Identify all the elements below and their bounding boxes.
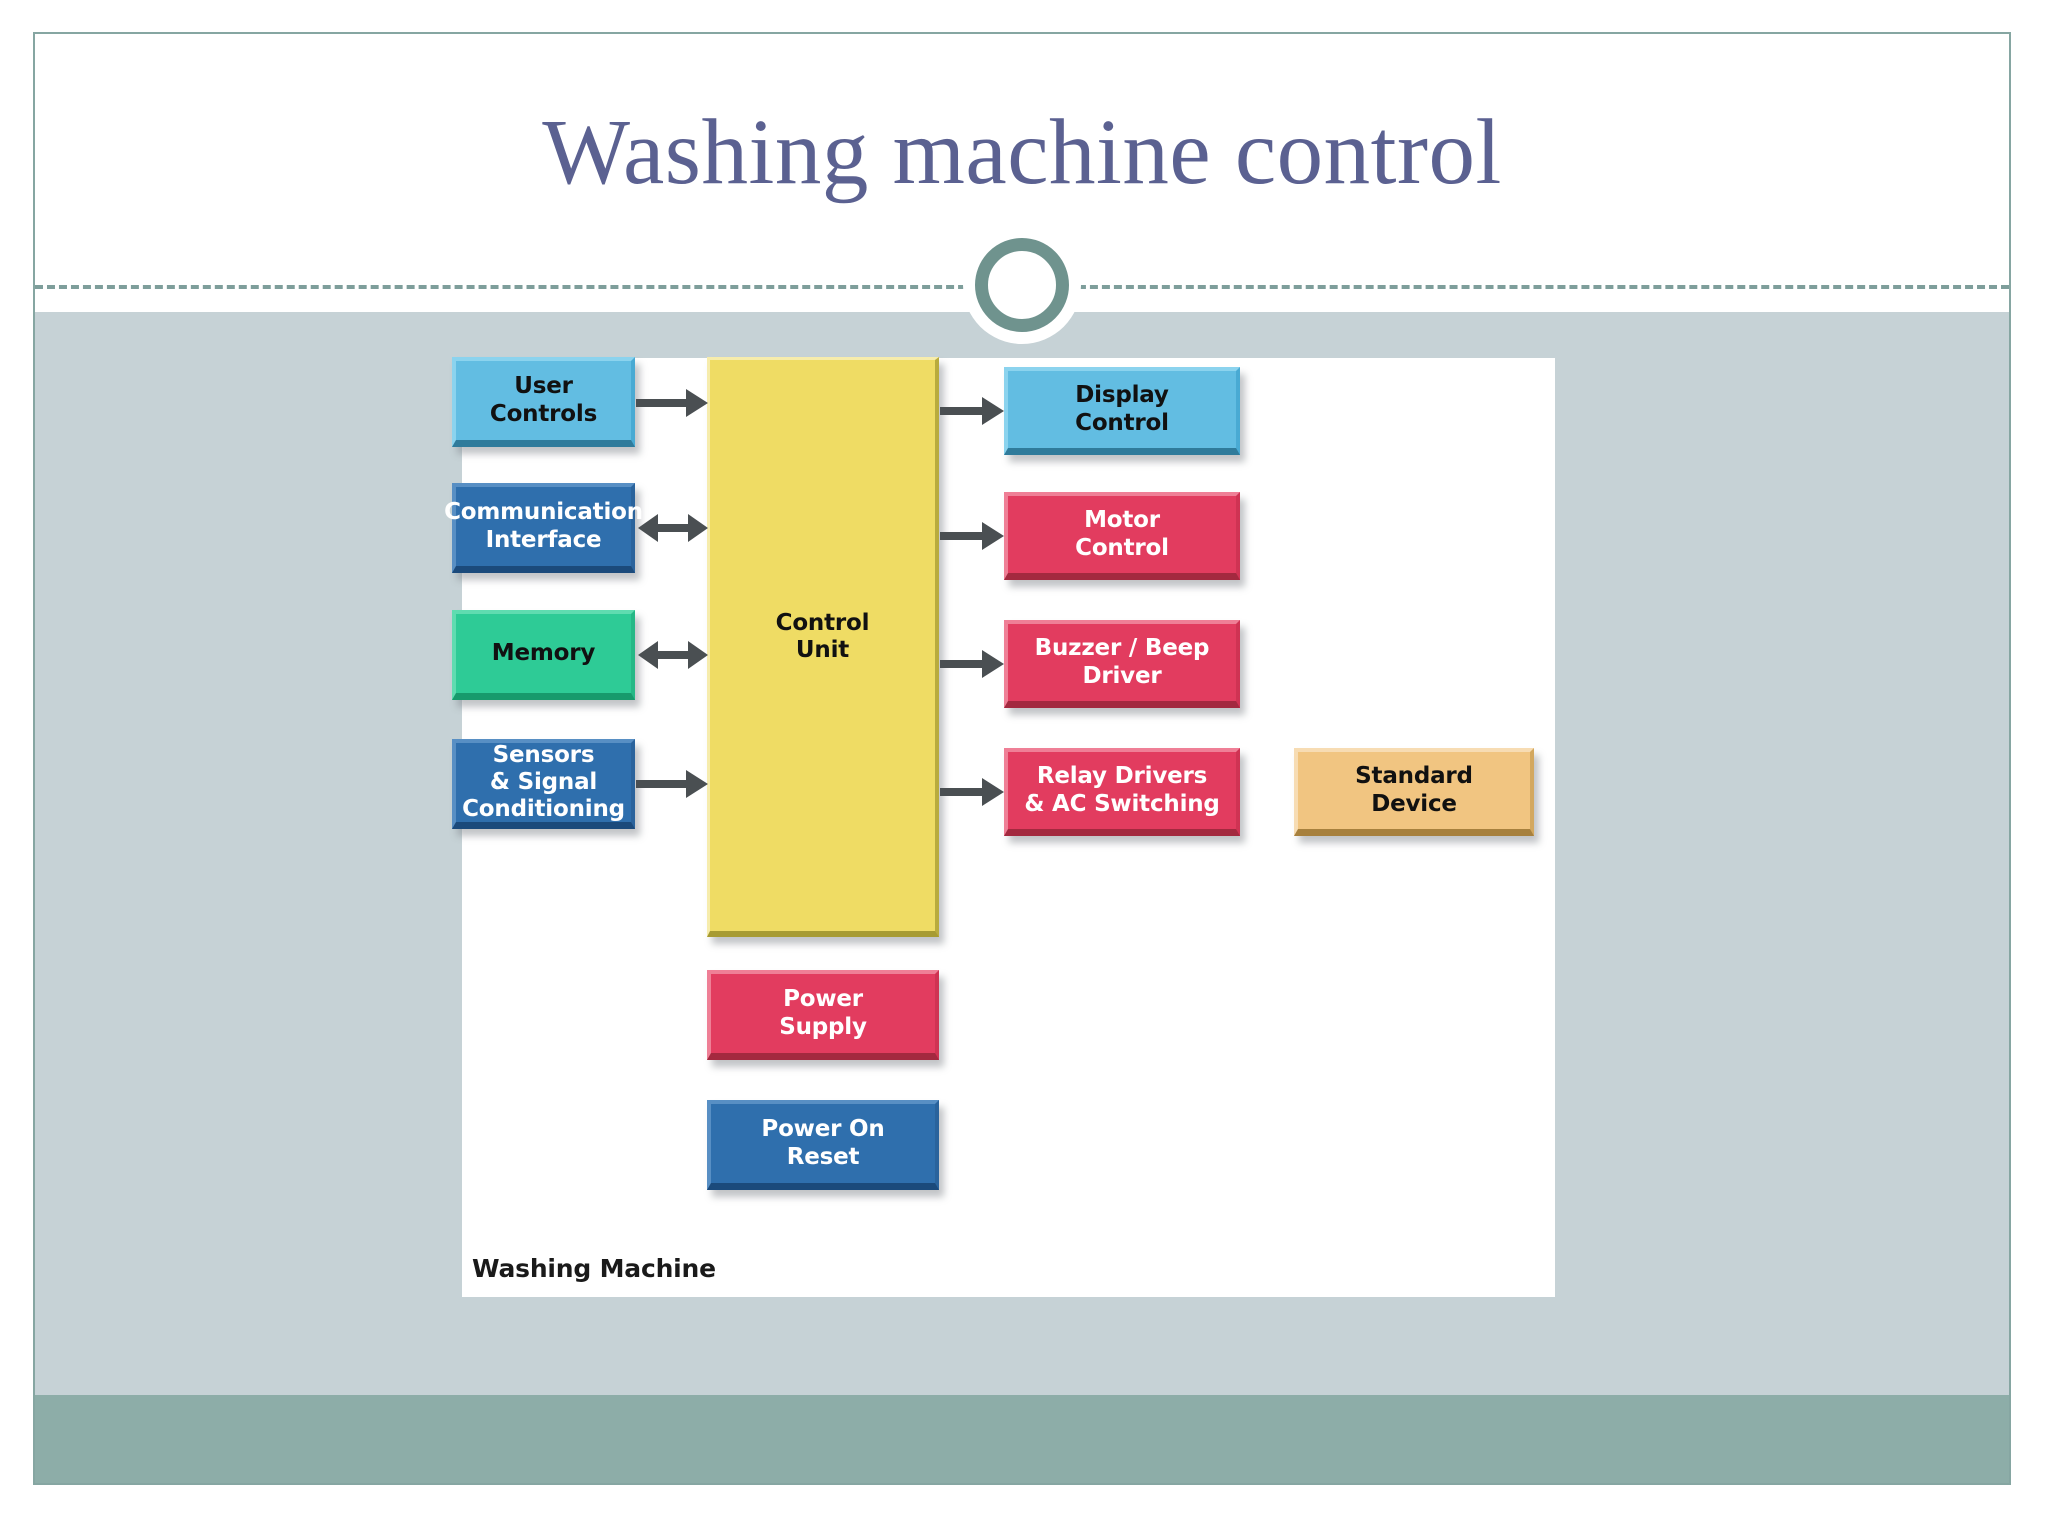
arrow-communication-interface-control-unit-bidirectional <box>636 511 710 545</box>
arrow-sensors-to-control-unit <box>636 767 710 801</box>
block-display-control[interactable]: Display Control <box>1004 367 1240 455</box>
diagram-system-label: Washing Machine <box>472 1254 716 1283</box>
page-title: Washing machine control <box>35 104 2009 202</box>
block-memory[interactable]: Memory <box>452 610 635 700</box>
block-label: Communication Interface <box>438 499 649 553</box>
presentation-slide: Washing machine control User Controls Co… <box>33 32 2011 1485</box>
arrow-memory-control-unit-bidirectional <box>636 638 710 672</box>
block-label: Control Unit <box>770 610 876 664</box>
block-user-controls[interactable]: User Controls <box>452 357 635 447</box>
block-control-unit[interactable]: Control Unit <box>707 357 939 937</box>
block-label: Buzzer / Beep Driver <box>1029 635 1216 689</box>
block-label: Power Supply <box>773 986 873 1040</box>
footer-bar <box>35 1395 2009 1483</box>
block-motor-control[interactable]: Motor Control <box>1004 492 1240 580</box>
block-label: Standard Device <box>1349 763 1479 817</box>
arrow-control-unit-to-motor-control <box>940 519 1006 553</box>
block-label: Motor Control <box>1069 507 1175 561</box>
block-label: User Controls <box>484 373 603 427</box>
block-buzzer-beep-driver[interactable]: Buzzer / Beep Driver <box>1004 620 1240 708</box>
block-sensors-signal-conditioning[interactable]: Sensors & Signal Conditioning <box>452 739 635 829</box>
block-power-on-reset[interactable]: Power On Reset <box>707 1100 939 1190</box>
arrow-control-unit-to-display-control <box>940 394 1006 428</box>
block-label: Sensors & Signal Conditioning <box>456 742 631 823</box>
arrow-user-controls-to-control-unit <box>636 386 710 420</box>
block-label: Power On Reset <box>755 1116 890 1170</box>
block-standard-device[interactable]: Standard Device <box>1294 748 1534 836</box>
block-diagram: User Controls Communication Interface Me… <box>462 358 1555 1297</box>
arrow-control-unit-to-relay-drivers <box>940 775 1006 809</box>
block-power-supply[interactable]: Power Supply <box>707 970 939 1060</box>
block-communication-interface[interactable]: Communication Interface <box>452 483 635 573</box>
arrow-control-unit-to-buzzer-driver <box>940 647 1006 681</box>
block-relay-drivers-ac-switching[interactable]: Relay Drivers & AC Switching <box>1004 748 1240 836</box>
block-label: Memory <box>486 640 601 667</box>
block-label: Relay Drivers & AC Switching <box>1018 763 1225 817</box>
block-label: Display Control <box>1069 382 1175 436</box>
ring-decoration <box>963 226 1081 344</box>
circle-icon <box>975 238 1069 332</box>
